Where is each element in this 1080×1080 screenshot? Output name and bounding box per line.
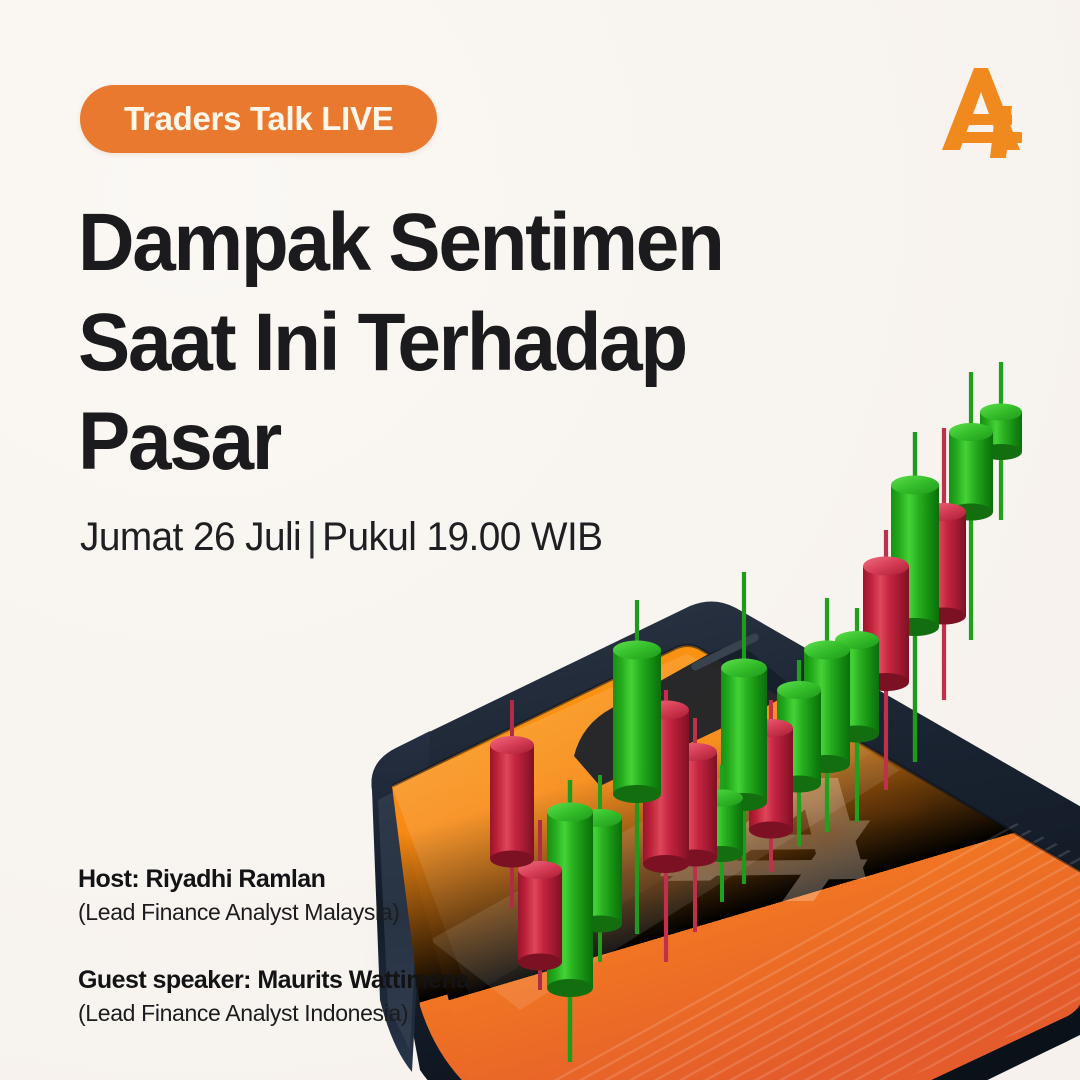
host-name: Host: Riyadhi Ramlan — [78, 865, 548, 894]
candle-red — [863, 530, 909, 790]
candle-green — [835, 608, 879, 822]
schedule-separator: | — [301, 515, 322, 560]
candle-red — [643, 690, 689, 962]
headline-line-2: Saat Ini Terhadap — [78, 293, 804, 393]
phone-notch — [574, 628, 796, 786]
live-badge-label: Traders Talk LIVE — [124, 100, 393, 138]
screen-a-watermark — [645, 777, 922, 903]
candle-green — [891, 432, 939, 762]
guest-role: (Lead Finance Analyst Indonesia) — [78, 1000, 548, 1027]
candle-green — [701, 765, 743, 902]
candle-green — [949, 372, 993, 640]
candle-green — [804, 598, 850, 832]
live-badge[interactable]: Traders Talk LIVE — [80, 85, 437, 153]
candle-green — [547, 780, 593, 1062]
candle-red — [922, 428, 966, 700]
schedule-date: Jumat 26 Juli — [80, 515, 301, 559]
phone-earpiece-speaker — [690, 632, 760, 672]
schedule-line: Jumat 26 Juli|Pukul 19.00 WIB — [80, 515, 602, 560]
page-title: Dampak Sentimen Saat Ini Terhadap Pasar — [78, 193, 838, 492]
appecon-a-logo-icon — [936, 62, 1028, 162]
headline-line-3: Pasar — [78, 392, 804, 492]
credits-block: Host: Riyadhi Ramlan (Lead Finance Analy… — [78, 865, 548, 1027]
guest-name: Guest speaker: Maurits Wattimena — [78, 966, 548, 995]
host-role: (Lead Finance Analyst Malaysia) — [78, 899, 548, 926]
candle-green — [980, 362, 1022, 520]
candle-green — [721, 572, 767, 884]
schedule-time: Pukul 19.00 WIB — [322, 515, 602, 559]
candle-green — [777, 660, 821, 846]
candle-red — [673, 718, 717, 932]
guest-credit: Guest speaker: Maurits Wattimena (Lead F… — [78, 966, 548, 1027]
candle-screen-shadows — [510, 792, 928, 916]
candle-red — [749, 700, 793, 872]
host-credit: Host: Riyadhi Ramlan (Lead Finance Analy… — [78, 865, 548, 926]
headline-line-1: Dampak Sentimen — [78, 193, 804, 293]
screen-stripe-texture — [520, 756, 1080, 1080]
candle-green — [613, 600, 661, 934]
promo-poster: Traders Talk LIVE Dampak Sentimen Saat I… — [0, 0, 1080, 1080]
candle-green — [578, 775, 622, 962]
